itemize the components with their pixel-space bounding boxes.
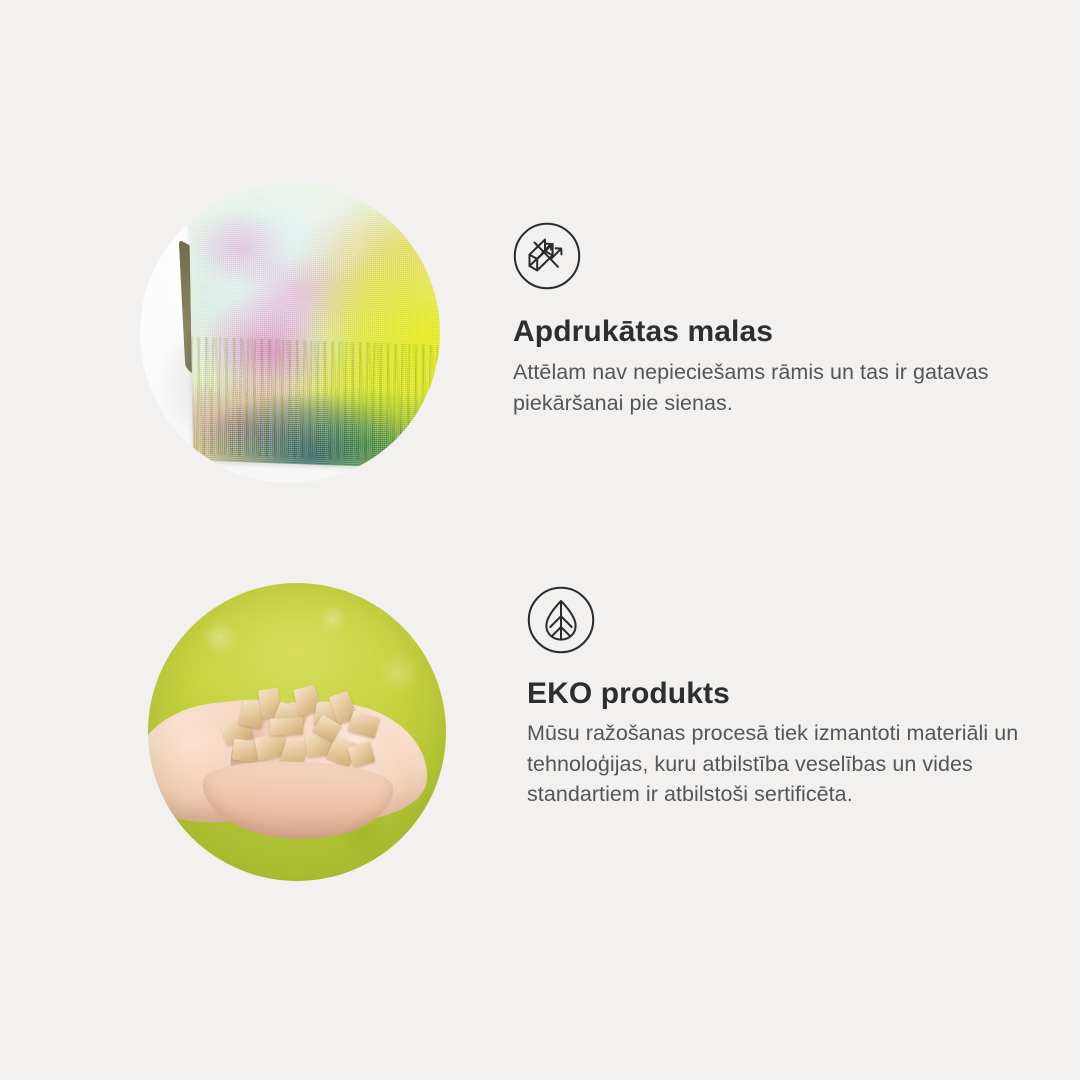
printed-edges-icon — [513, 222, 581, 290]
feature-description: Attēlam nav nepieciešams rāmis un tas ir… — [513, 348, 993, 418]
canvas-weave-texture — [188, 183, 440, 469]
fingers — [200, 758, 393, 842]
feature-block-eco-product: EKO produkts Mūsu ražošanas procesā tiek… — [0, 560, 1080, 920]
canvas-printed-face — [188, 183, 440, 469]
hands-holding-wood-chips-photo — [148, 583, 446, 881]
leaf-icon — [527, 586, 595, 654]
feature-block-printed-edges: Apdrukātas malas Attēlam nav nepieciešam… — [0, 160, 1080, 520]
green-bokeh-background — [148, 583, 446, 881]
feature-title: Apdrukātas malas — [513, 290, 1013, 348]
feature-content-printed-edges: Apdrukātas malas Attēlam nav nepieciešam… — [513, 222, 1013, 418]
feature-description: Mūsu ražošanas procesā tiek izmantoti ma… — [527, 710, 1019, 810]
feature-title: EKO produkts — [527, 654, 1027, 710]
product-features-panel: Apdrukātas malas Attēlam nav nepieciešam… — [0, 0, 1080, 1080]
feature-content-eco-product: EKO produkts Mūsu ražošanas procesā tiek… — [527, 586, 1027, 810]
canvas-print-wrapped-edge-photo — [140, 183, 440, 483]
canvas-photo-backdrop — [140, 183, 440, 483]
